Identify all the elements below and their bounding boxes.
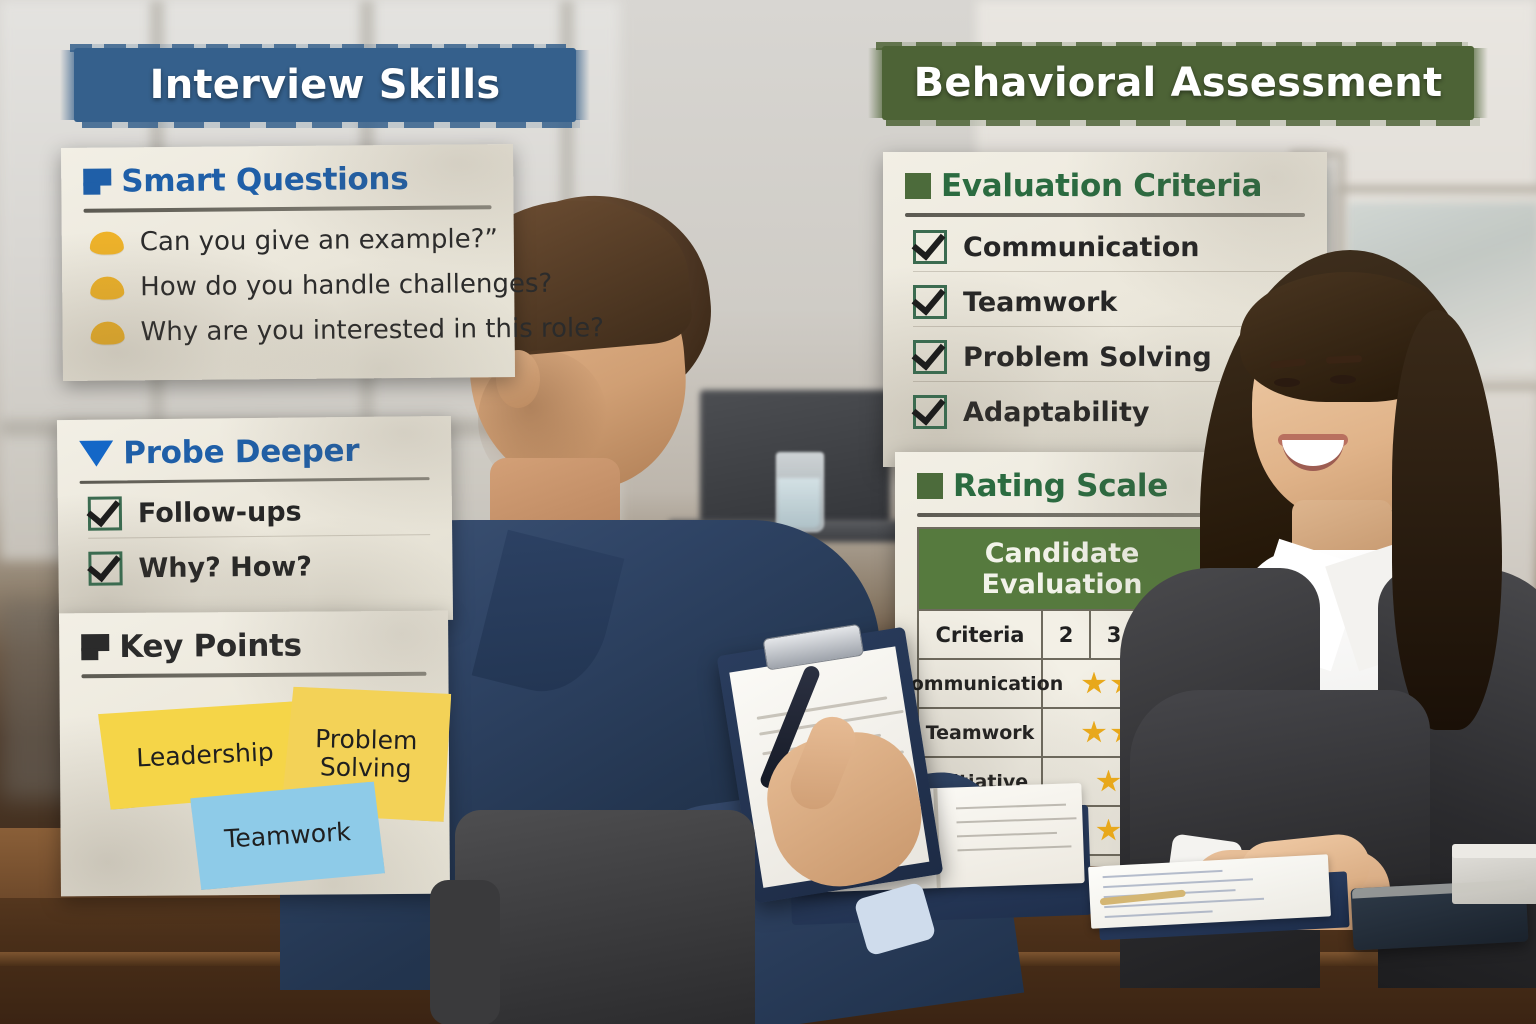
star-icon (1082, 672, 1107, 696)
candidate-hair-side (1392, 310, 1502, 730)
checkbox-checked-icon (913, 230, 947, 264)
square-icon (917, 473, 943, 499)
panel-title: Key Points (119, 628, 302, 665)
column-header: Criteria (919, 609, 1043, 658)
column-header: 2 (1043, 609, 1091, 658)
cloud-bullet-icon (90, 276, 124, 299)
criteria-label: Adaptability (963, 397, 1150, 428)
row-label: Communication (919, 658, 1043, 707)
desk-block-top (1452, 844, 1536, 858)
checkbox-checked-icon (913, 340, 947, 374)
scene-root: Smart Questions Can you give an example?… (0, 0, 1536, 1024)
office-chair-arm (430, 880, 500, 1024)
candidate-eye (1330, 375, 1356, 384)
flag-icon (81, 634, 109, 660)
sticky-note-label: Leadership (136, 738, 275, 772)
checklist-label: Follow-ups (138, 496, 302, 529)
divider (905, 213, 1305, 217)
banner-interview-skills: Interview Skills (60, 42, 590, 128)
candidate-eye (1274, 378, 1300, 387)
office-chair (455, 810, 755, 1024)
checkbox-checked-icon (913, 285, 947, 319)
panel-title: Rating Scale (953, 468, 1168, 504)
triangle-down-icon (79, 440, 113, 466)
star-icon (1096, 770, 1121, 794)
star-icon (1096, 819, 1121, 843)
candidate-figure (1140, 250, 1536, 930)
candidate-documents (1088, 853, 1352, 946)
panel-header: Evaluation Criteria (905, 168, 1305, 204)
star-icon (1082, 721, 1107, 745)
checklist-label: Why? How? (138, 551, 312, 584)
checkbox-checked-icon (913, 395, 947, 429)
banner-title: Interview Skills (60, 62, 590, 108)
square-icon (905, 173, 931, 199)
criteria-label: Teamwork (963, 287, 1117, 318)
checkbox-checked-icon (88, 496, 122, 530)
panel-title: Evaluation Criteria (941, 168, 1262, 204)
document-sheet (1088, 854, 1331, 928)
flag-icon (83, 169, 111, 195)
cloud-bullet-icon (91, 321, 125, 344)
cloud-bullet-icon (90, 231, 124, 254)
banner-behavioral-assessment: Behavioral Assessment (868, 40, 1488, 126)
row-label: Teamwork (919, 707, 1043, 756)
checkbox-checked-icon (88, 551, 122, 585)
banner-title: Behavioral Assessment (868, 60, 1488, 106)
